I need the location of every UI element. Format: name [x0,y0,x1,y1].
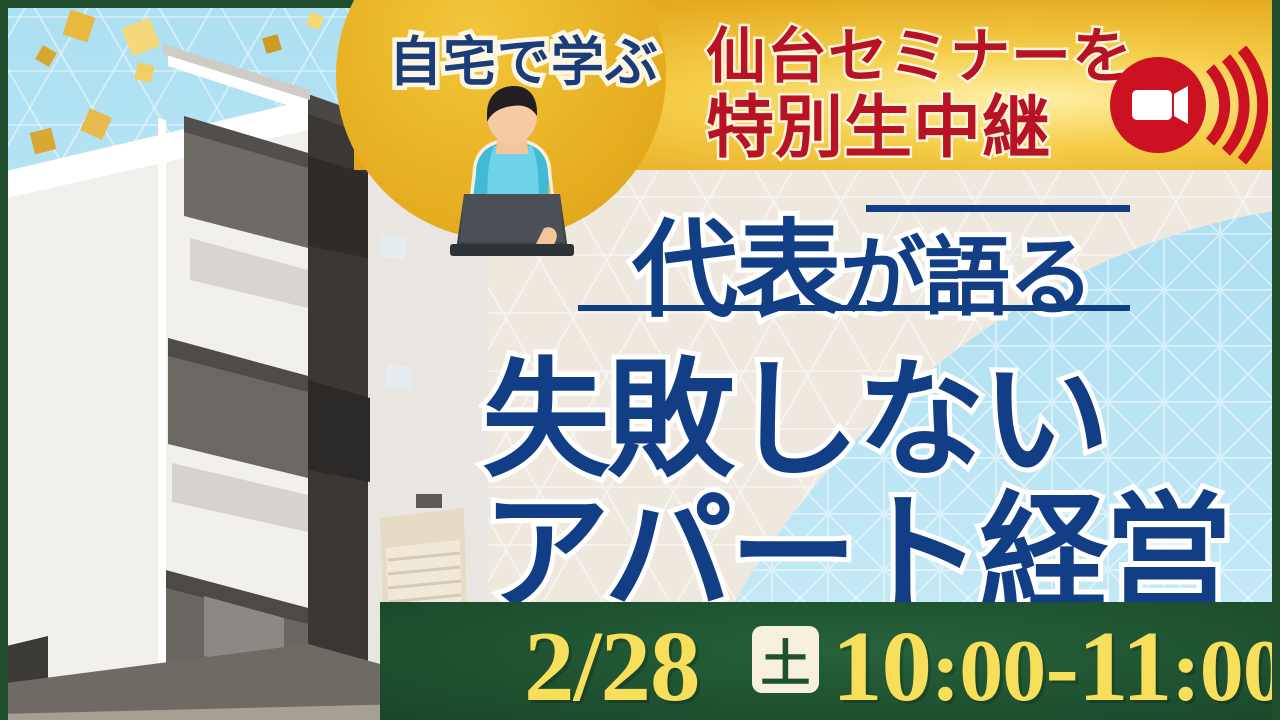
time-end-min: :00 [1171,623,1280,720]
title-line1-main: 代表 [632,213,840,330]
time-start-min: :00 [931,623,1045,720]
time-dash: - [1045,610,1078,720]
title-line-1: 代表が語る [632,184,1092,338]
badge-label: 自宅で学ぶ [374,20,674,96]
right-border [1272,0,1280,720]
event-time: 10:00-11:00 [832,608,1280,720]
time-end-hour: 11 [1078,610,1171,720]
seminar-banner: 自宅で学ぶ 仙台セミナーを 特別生中継 代表が語る 失敗しない アパート経営 2… [0,0,1280,720]
person-with-laptop-icon [424,78,600,256]
live-broadcast-icon [1108,46,1268,164]
headline-red-line2: 特別生中継 [706,72,1051,171]
video-camera-icon [1132,86,1188,124]
event-date: 2/28 [524,608,700,720]
title-line1-sub: が語る [840,230,1092,326]
weekday-badge: 土 [752,626,819,693]
title-rule-middle [578,305,1130,311]
time-start-hour: 10 [832,610,931,720]
